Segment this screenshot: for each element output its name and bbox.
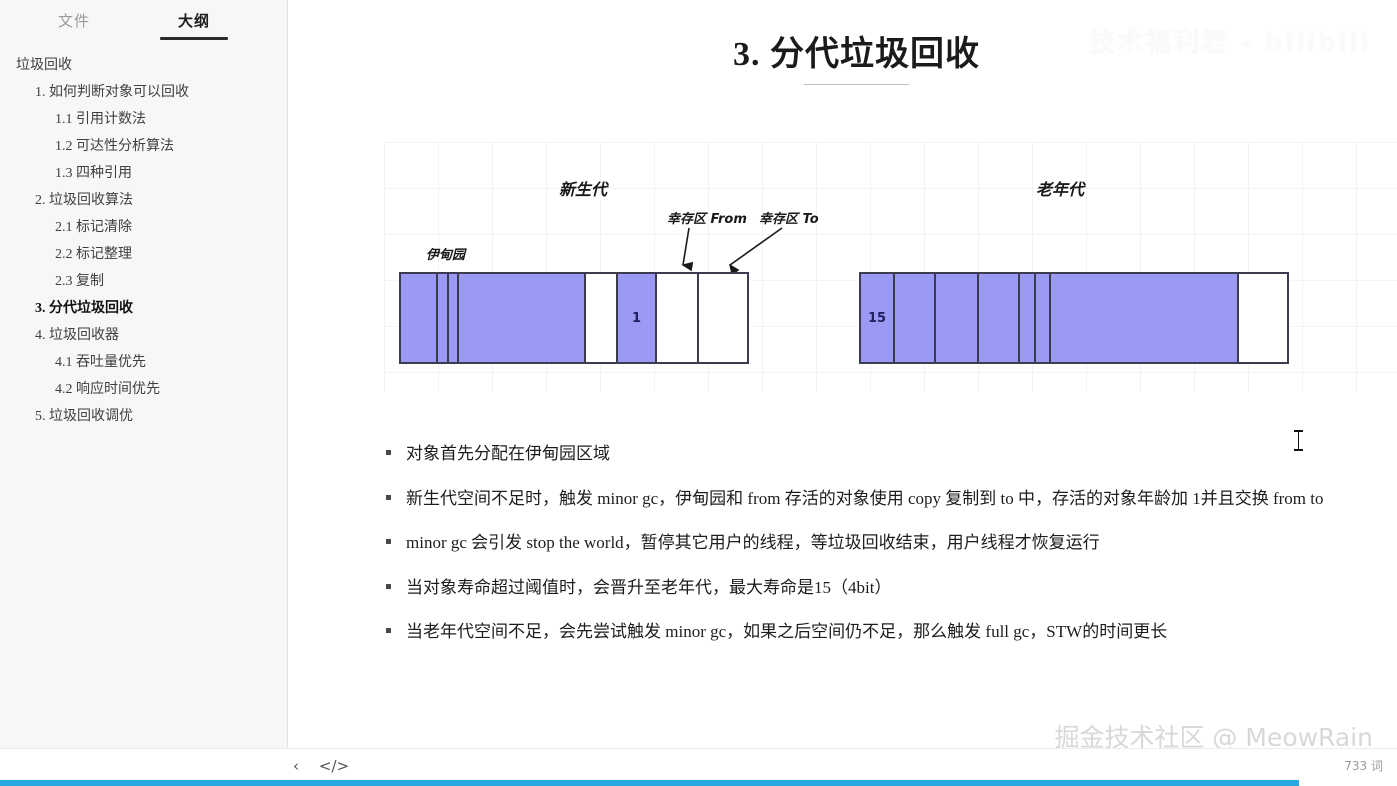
tab-outline-label: 大纲 [178, 13, 210, 30]
young-cell-0 [401, 274, 438, 362]
page-progress-fill [0, 780, 1299, 786]
old-cell-5 [1036, 274, 1051, 362]
old-cell-4 [1020, 274, 1036, 362]
young-cell-6 [657, 274, 699, 362]
arrow-to-survivor-from [683, 228, 689, 265]
sidebar: 文件 大纲 垃圾回收 1. 如何判断对象可以回收 1.1 引用计数法 1.2 可… [0, 0, 288, 786]
outline-item-3[interactable]: 1.2 可达性分析算法 [0, 133, 287, 160]
page-title: 3. 分代垃圾回收 [288, 26, 1397, 75]
outline-list: 垃圾回收 1. 如何判断对象可以回收 1.1 引用计数法 1.2 可达性分析算法… [0, 44, 287, 430]
document-editor-pane[interactable]: 技术福利君 - bilibili 3. 分代垃圾回收 新生代 老年代 伊甸园 幸… [288, 0, 1397, 786]
arrow-to-survivor-to [730, 228, 782, 265]
bullet-item-0: 对象首先分配在伊甸园区域 [384, 440, 1394, 468]
old-cell-2 [936, 274, 979, 362]
tab-active-underline [160, 37, 228, 40]
old-gen-age-value: 15 [868, 311, 886, 326]
outline-item-13[interactable]: 5. 垃圾回收调优 [0, 403, 287, 430]
young-cell-3-eden [459, 274, 586, 362]
sidebar-tab-bar: 文件 大纲 [0, 0, 287, 44]
text-cursor [1298, 430, 1299, 451]
outline-item-label: 5. 垃圾回收调优 [35, 409, 133, 424]
outline-item-label: 3. 分代垃圾回收 [35, 301, 133, 316]
outline-item-9-active[interactable]: 3. 分代垃圾回收 [0, 295, 287, 322]
chevron-left-icon[interactable]: ‹ [285, 755, 307, 777]
outline-item-11[interactable]: 4.1 吞吐量优先 [0, 349, 287, 376]
document-body[interactable]: 对象首先分配在伊甸园区域 新生代空间不足时，触发 minor gc，伊甸园和 f… [384, 440, 1394, 663]
outline-item-label: 垃圾回收 [16, 58, 72, 73]
bullet-item-4: 当老年代空间不足，会先尝试触发 minor gc，如果之后空间仍不足，那么触发 … [384, 618, 1394, 646]
page-progress-track[interactable] [0, 780, 1397, 786]
outline-item-label: 1.3 四种引用 [55, 166, 132, 181]
tab-outline[interactable]: 大纲 [134, 0, 254, 44]
bullet-item-3: 当对象寿命超过阈值时，会晋升至老年代，最大寿命是15（4bit） [384, 574, 1394, 602]
outline-item-5[interactable]: 2. 垃圾回收算法 [0, 187, 287, 214]
outline-item-0[interactable]: 垃圾回收 [0, 52, 287, 79]
outline-item-label: 2.2 标记整理 [55, 247, 132, 262]
tab-files[interactable]: 文件 [14, 0, 134, 44]
outline-item-label: 1.1 引用计数法 [55, 112, 146, 127]
outline-item-label: 2.3 复制 [55, 274, 104, 289]
young-cell-2 [449, 274, 459, 362]
outline-item-label: 2. 垃圾回收算法 [35, 193, 133, 208]
title-underline-rule [804, 84, 909, 85]
young-cell-7-survivor-to [699, 274, 744, 362]
outline-item-6[interactable]: 2.1 标记清除 [0, 214, 287, 241]
old-cell-7-free [1239, 274, 1283, 362]
outline-item-label: 1.2 可达性分析算法 [55, 139, 174, 154]
young-cell-4-free [586, 274, 618, 362]
young-cell-5-survivor-from: 1 [618, 274, 657, 362]
word-count-label: 733 词 [1344, 757, 1383, 774]
tab-files-label: 文件 [58, 13, 90, 30]
chevron-left-glyph: ‹ [293, 757, 299, 775]
outline-item-4[interactable]: 1.3 四种引用 [0, 160, 287, 187]
outline-item-12[interactable]: 4.2 响应时间优先 [0, 376, 287, 403]
outline-item-2[interactable]: 1.1 引用计数法 [0, 106, 287, 133]
code-source-glyph: </> [319, 757, 349, 775]
old-cell-1 [895, 274, 936, 362]
outline-item-label: 1. 如何判断对象可以回收 [35, 85, 189, 100]
bullet-item-1: 新生代空间不足时，触发 minor gc，伊甸园和 from 存活的对象使用 c… [384, 485, 1394, 513]
young-cell-1 [438, 274, 449, 362]
status-bar-icon-group: ‹ </> [285, 755, 345, 777]
outline-item-8[interactable]: 2.3 复制 [0, 268, 287, 295]
bullet-item-2: minor gc 会引发 stop the world，暂停其它用户的线程，等垃… [384, 529, 1394, 557]
old-cell-3 [979, 274, 1020, 362]
old-cell-0: 15 [861, 274, 895, 362]
outline-item-label: 4.2 响应时间优先 [55, 382, 160, 397]
app-window: 文件 大纲 垃圾回收 1. 如何判断对象可以回收 1.1 引用计数法 1.2 可… [0, 0, 1397, 786]
old-generation-memory-bar: 15 [859, 272, 1289, 364]
generational-gc-diagram: 新生代 老年代 伊甸园 幸存区 From 幸存区 To [384, 142, 1397, 392]
outline-item-1[interactable]: 1. 如何判断对象可以回收 [0, 79, 287, 106]
outline-item-label: 4.1 吞吐量优先 [55, 355, 146, 370]
young-generation-memory-bar: 1 [399, 272, 749, 364]
survivor-from-age-value: 1 [632, 311, 641, 326]
old-cell-6 [1051, 274, 1239, 362]
outline-item-10[interactable]: 4. 垃圾回收器 [0, 322, 287, 349]
outline-item-7[interactable]: 2.2 标记整理 [0, 241, 287, 268]
code-source-icon[interactable]: </> [323, 755, 345, 777]
outline-item-label: 4. 垃圾回收器 [35, 328, 119, 343]
outline-item-label: 2.1 标记清除 [55, 220, 132, 235]
